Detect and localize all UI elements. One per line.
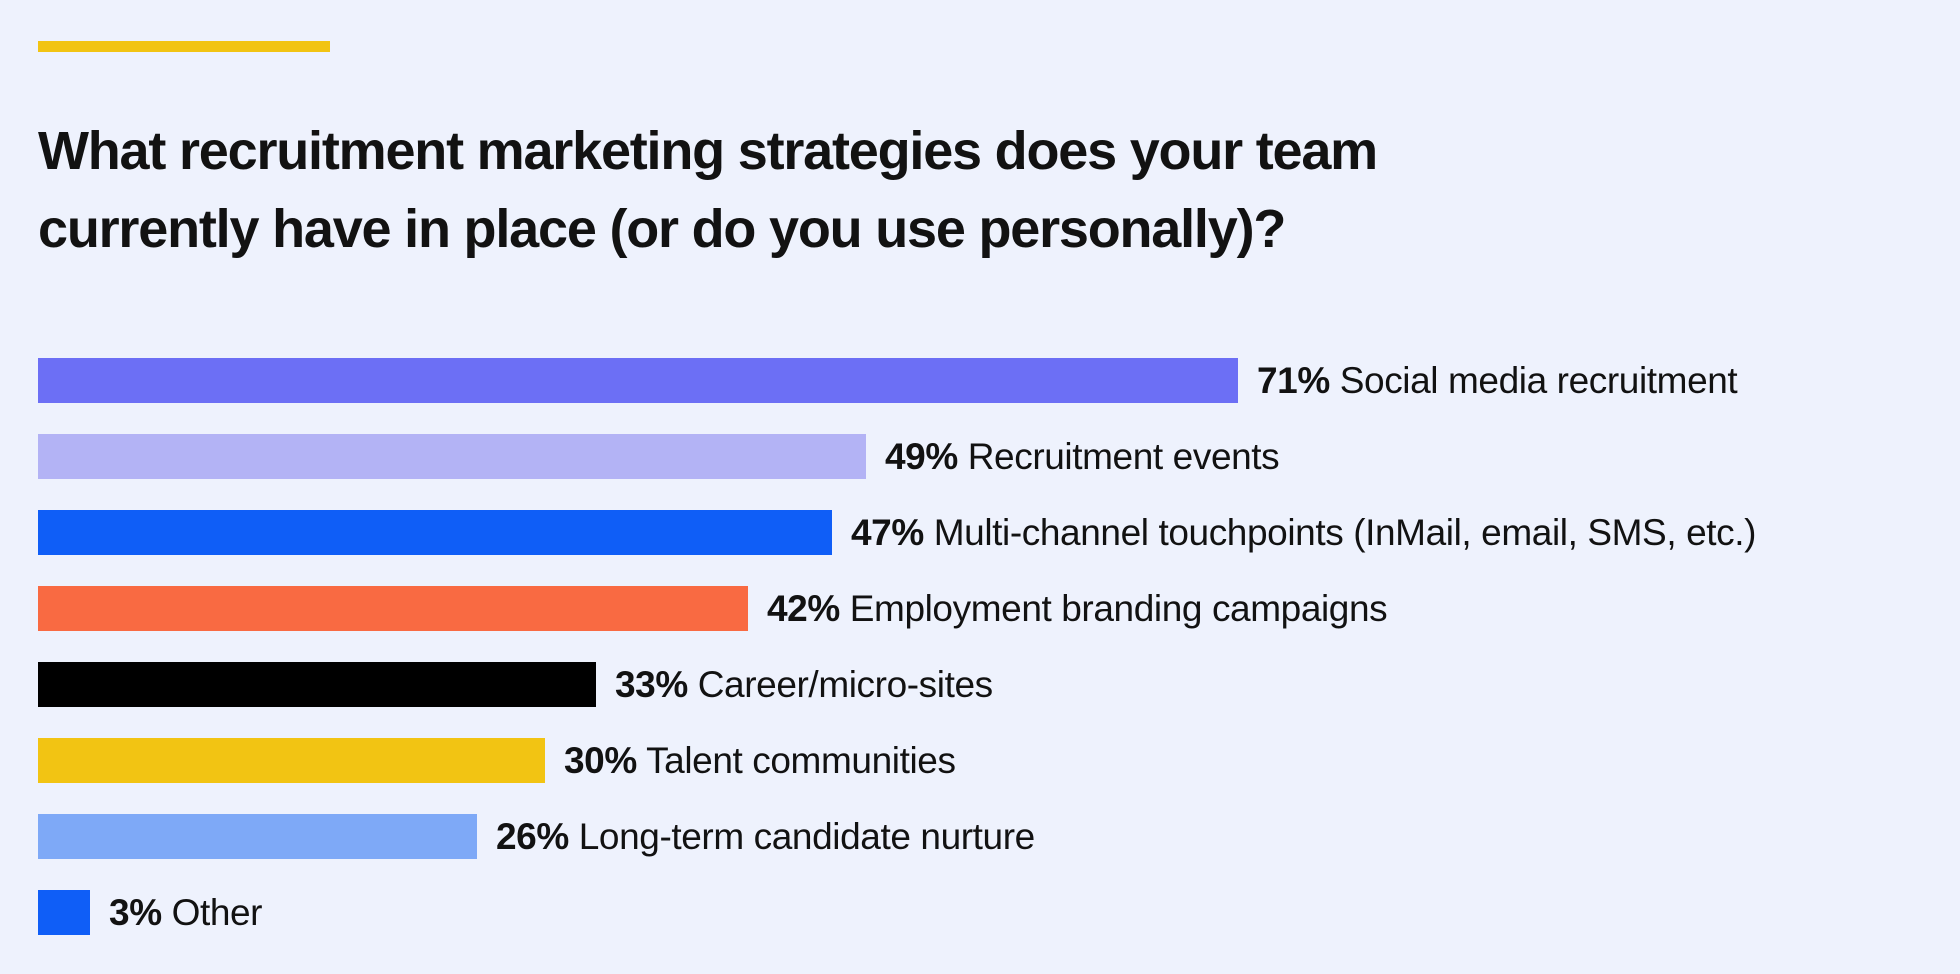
bar-segment	[38, 510, 832, 555]
bar-segment	[38, 814, 477, 859]
bar-value: 26	[496, 816, 536, 857]
bar-row: 42% Employment branding campaigns	[38, 586, 1938, 631]
bar-segment	[38, 434, 866, 479]
bar-category-label: Long-term candidate nurture	[569, 816, 1035, 857]
bar-label: 49% Recruitment events	[885, 434, 1279, 479]
bar-category-label: Career/micro-sites	[688, 664, 993, 705]
bar-label: 3% Other	[109, 890, 262, 935]
percent-sign: %	[1297, 360, 1330, 401]
bar-label: 30% Talent communities	[564, 738, 956, 783]
bar-row: 47% Multi-channel touchpoints (InMail, e…	[38, 510, 1938, 555]
page-title: What recruitment marketing strategies do…	[38, 112, 1598, 268]
bar-segment	[38, 738, 545, 783]
bar-category-label: Recruitment events	[958, 436, 1279, 477]
percent-sign: %	[604, 740, 637, 781]
bar-row: 26% Long-term candidate nurture	[38, 814, 1938, 859]
bar-chart: 71% Social media recruitment49% Recruitm…	[38, 358, 1938, 935]
bar-segment	[38, 890, 90, 935]
bar-category-label: Talent communities	[637, 740, 956, 781]
bar-row: 30% Talent communities	[38, 738, 1938, 783]
bar-row: 33% Career/micro-sites	[38, 662, 1938, 707]
bar-segment	[38, 358, 1238, 403]
percent-sign: %	[129, 892, 162, 933]
bar-category-label: Employment branding campaigns	[840, 588, 1387, 629]
percent-sign: %	[891, 512, 924, 553]
percent-sign: %	[536, 816, 569, 857]
bar-segment	[38, 586, 748, 631]
bar-segment	[38, 662, 596, 707]
bar-category-label: Social media recruitment	[1330, 360, 1737, 401]
bar-label: 33% Career/micro-sites	[615, 662, 993, 707]
bar-value: 47	[851, 512, 891, 553]
bar-value: 42	[767, 588, 807, 629]
bar-value: 30	[564, 740, 604, 781]
bar-category-label: Other	[162, 892, 262, 933]
bar-label: 42% Employment branding campaigns	[767, 586, 1387, 631]
percent-sign: %	[925, 436, 958, 477]
bar-value: 33	[615, 664, 655, 705]
bar-label: 47% Multi-channel touchpoints (InMail, e…	[851, 510, 1756, 555]
chart-page: What recruitment marketing strategies do…	[0, 0, 1960, 974]
percent-sign: %	[655, 664, 688, 705]
bar-category-label: Multi-channel touchpoints (InMail, email…	[924, 512, 1756, 553]
yellow-accent-rule	[38, 41, 330, 52]
bar-value: 71	[1257, 360, 1297, 401]
bar-row: 49% Recruitment events	[38, 434, 1938, 479]
bar-label: 26% Long-term candidate nurture	[496, 814, 1035, 859]
percent-sign: %	[807, 588, 840, 629]
bar-value: 49	[885, 436, 925, 477]
bar-row: 3% Other	[38, 890, 1938, 935]
bar-label: 71% Social media recruitment	[1257, 358, 1737, 403]
bar-value: 3	[109, 892, 129, 933]
bar-row: 71% Social media recruitment	[38, 358, 1938, 403]
